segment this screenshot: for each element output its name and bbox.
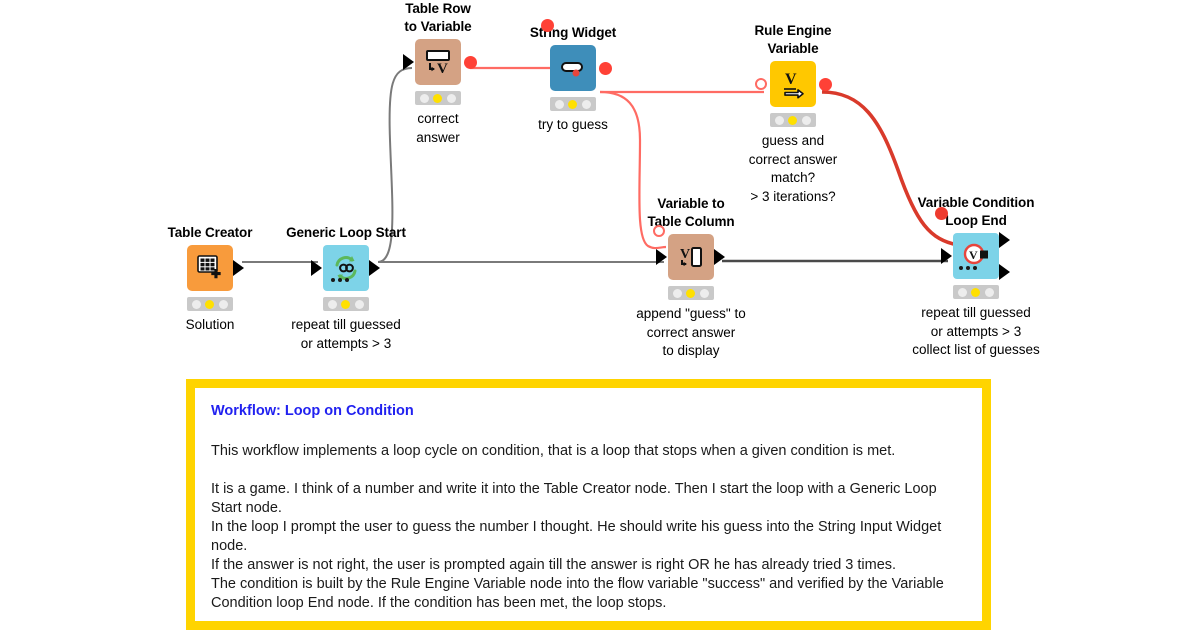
- svg-text:V: V: [437, 61, 448, 77]
- node-table-creator-title: Table Creator: [135, 224, 285, 242]
- annotation-title: Workflow: Loop on Condition: [211, 402, 966, 420]
- table-grid-plus-icon: [187, 245, 233, 291]
- port-variable-to-table-column-out[interactable]: [714, 249, 725, 265]
- node-variable-condition-loop-end-body[interactable]: V: [953, 233, 999, 279]
- port-variable-to-table-column-in-data[interactable]: [656, 249, 667, 265]
- node-rule-engine-variable-title: Rule Engine Variable: [718, 22, 868, 58]
- status-led-idle: [328, 300, 337, 309]
- status-led-configured: [341, 300, 350, 309]
- svg-text:V: V: [680, 247, 690, 262]
- status-led-executed: [985, 288, 994, 297]
- node-table-creator[interactable]: Table Creator Solution: [135, 224, 285, 335]
- node-string-widget-subtitle: try to guess: [498, 116, 648, 135]
- port-variable-condition-loop-end-in-variable[interactable]: [935, 207, 948, 220]
- variable-to-column-icon: V: [668, 234, 714, 280]
- workflow-annotation-content: Workflow: Loop on Condition This workflo…: [195, 388, 982, 621]
- node-table-creator-subtitle: Solution: [135, 316, 285, 335]
- status-led-executed: [802, 116, 811, 125]
- node-variable-condition-loop-end[interactable]: Variable Condition Loop End V repeat til: [901, 194, 1051, 360]
- node-table-row-to-variable-status: [415, 91, 461, 105]
- node-variable-to-table-column-status: [668, 286, 714, 300]
- status-led-idle: [420, 94, 429, 103]
- node-generic-loop-start-subtitle: repeat till guessed or attempts > 3: [271, 316, 421, 353]
- loop-end-dots-icon: [959, 266, 977, 270]
- node-variable-to-table-column-title: Variable to Table Column: [616, 195, 766, 231]
- status-led-executed: [447, 94, 456, 103]
- port-table-row-to-variable-in[interactable]: [403, 54, 414, 70]
- string-input-field-icon: [550, 45, 596, 91]
- status-led-configured: [971, 288, 980, 297]
- node-string-widget-body[interactable]: [550, 45, 596, 91]
- port-variable-condition-loop-end-out-1[interactable]: [999, 232, 1010, 248]
- node-generic-loop-start-status: [323, 297, 369, 311]
- variable-arrow-icon: V: [770, 61, 816, 107]
- loop-start-dots-icon: [331, 278, 349, 282]
- port-variable-condition-loop-end-in-data[interactable]: [941, 248, 952, 264]
- svg-text:V: V: [969, 248, 978, 262]
- port-generic-loop-start-in[interactable]: [311, 260, 322, 276]
- annotation-paragraph-4: If the answer is not right, the user is …: [211, 556, 966, 575]
- node-rule-engine-variable[interactable]: Rule Engine Variable V guess and correct…: [718, 22, 868, 206]
- annotation-paragraph-3: In the loop I prompt the user to guess t…: [211, 518, 966, 556]
- loop-refresh-icon: [323, 245, 369, 291]
- status-led-configured: [205, 300, 214, 309]
- node-table-creator-body[interactable]: [187, 245, 233, 291]
- node-table-row-to-variable-subtitle: correct answer: [363, 110, 513, 147]
- status-led-executed: [355, 300, 364, 309]
- status-led-idle: [192, 300, 201, 309]
- node-table-row-to-variable-body[interactable]: V: [415, 39, 461, 85]
- workflow-canvas[interactable]: Table Creator Solution: [0, 0, 1200, 630]
- status-led-executed: [700, 289, 709, 298]
- node-variable-to-table-column[interactable]: Variable to Table Column V append "guess…: [616, 195, 766, 361]
- node-string-widget-title: String Widget: [498, 24, 648, 42]
- status-led-idle: [958, 288, 967, 297]
- node-generic-loop-start-title: Generic Loop Start: [271, 224, 421, 242]
- port-table-row-to-variable-out-variable[interactable]: [464, 56, 477, 69]
- node-variable-to-table-column-body[interactable]: V: [668, 234, 714, 280]
- node-generic-loop-start[interactable]: Generic Loop Start r: [271, 224, 421, 353]
- node-table-row-to-variable[interactable]: Table Row to Variable V correct answer: [363, 0, 513, 147]
- node-variable-condition-loop-end-status: [953, 285, 999, 299]
- node-rule-engine-variable-body[interactable]: V: [770, 61, 816, 107]
- annotation-paragraph-1: This workflow implements a loop cycle on…: [211, 442, 966, 461]
- node-variable-to-table-column-subtitle: append "guess" to correct answer to disp…: [616, 305, 766, 361]
- node-generic-loop-start-body[interactable]: [323, 245, 369, 291]
- status-led-configured: [788, 116, 797, 125]
- port-variable-condition-loop-end-out-2[interactable]: [999, 264, 1010, 280]
- status-led-configured: [568, 100, 577, 109]
- port-string-widget-out-variable[interactable]: [599, 62, 612, 75]
- port-rule-engine-variable-out-variable[interactable]: [819, 78, 832, 91]
- status-led-configured: [686, 289, 695, 298]
- port-rule-engine-variable-in-variable[interactable]: [755, 78, 767, 90]
- node-table-row-to-variable-title: Table Row to Variable: [363, 0, 513, 36]
- annotation-paragraph-2: It is a game. I think of a number and wr…: [211, 480, 966, 518]
- port-generic-loop-start-out[interactable]: [369, 260, 380, 276]
- node-string-widget[interactable]: String Widget try to guess: [498, 24, 648, 135]
- port-table-creator-out[interactable]: [233, 260, 244, 276]
- svg-text:V: V: [785, 71, 797, 88]
- status-led-configured: [433, 94, 442, 103]
- status-led-executed: [219, 300, 228, 309]
- node-variable-condition-loop-end-subtitle: repeat till guessed or attempts > 3 coll…: [901, 304, 1051, 360]
- node-variable-condition-loop-end-title: Variable Condition Loop End: [901, 194, 1051, 230]
- variable-condition-loop-end-icon: V: [953, 233, 999, 279]
- node-table-creator-status: [187, 297, 233, 311]
- annotation-paragraph-5: The condition is built by the Rule Engin…: [211, 575, 966, 613]
- status-led-idle: [775, 116, 784, 125]
- row-to-variable-icon: V: [415, 39, 461, 85]
- port-variable-to-table-column-in-variable[interactable]: [653, 225, 665, 237]
- status-led-idle: [555, 100, 564, 109]
- port-string-widget-in-variable[interactable]: [541, 19, 554, 32]
- node-rule-engine-variable-status: [770, 113, 816, 127]
- workflow-annotation-box[interactable]: Workflow: Loop on Condition This workflo…: [186, 379, 991, 630]
- node-string-widget-status: [550, 97, 596, 111]
- status-led-executed: [582, 100, 591, 109]
- status-led-idle: [673, 289, 682, 298]
